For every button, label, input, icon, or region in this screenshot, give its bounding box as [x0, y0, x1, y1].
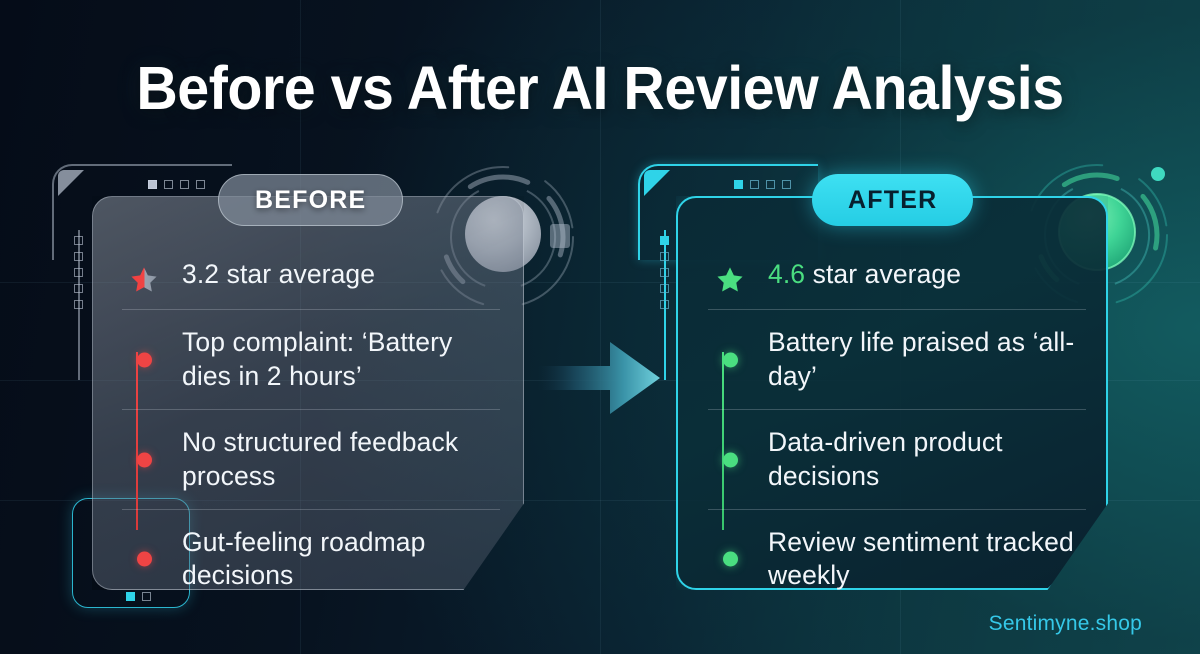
rating-value-after: 4.6 [768, 259, 805, 289]
hud-square [766, 180, 775, 189]
hud-square [74, 284, 83, 293]
hud-square [750, 180, 759, 189]
hud-square [196, 180, 205, 189]
bullet-dot-red [122, 452, 166, 467]
list-item-rating-after: 4.6 star average [708, 250, 1086, 309]
hud-square [148, 180, 157, 189]
bullet-dot-red [122, 552, 166, 567]
hud-square [74, 268, 83, 277]
list-item: Battery life praised as ‘all-day’ [708, 309, 1086, 409]
star-half-icon [122, 265, 166, 294]
hud-square [660, 268, 669, 277]
bullet-dot-green [708, 452, 752, 467]
footer-brand[interactable]: Sentimyne.shop [989, 612, 1142, 636]
list-item: Top complaint: ‘Battery dies in 2 hours’ [122, 309, 500, 409]
list-item-label: No structured feedback process [122, 426, 500, 493]
hud-square [74, 236, 83, 245]
rating-suffix-after: star average [805, 259, 961, 289]
hud-square [660, 236, 669, 245]
dot-glyph [723, 452, 738, 467]
page-title: Before vs After AI Review Analysis [36, 58, 1164, 119]
list-item-label: Battery life praised as ‘all-day’ [708, 326, 1086, 393]
list-item-label: Data-driven product decisions [708, 426, 1086, 493]
arrow-right-glyph [538, 330, 666, 426]
badge-after-label: AFTER [848, 186, 937, 215]
list-item-label: Gut-feeling roadmap decisions [122, 526, 500, 593]
hud-left-bar [664, 230, 666, 380]
list-item-label: Review sentiment tracked weekly [708, 526, 1086, 593]
star-full-icon [708, 265, 752, 294]
hud-square [164, 180, 173, 189]
dot-glyph [723, 352, 738, 367]
list-before: 3.2 star average Top complaint: ‘Battery… [122, 250, 500, 609]
badge-after[interactable]: AFTER [812, 174, 973, 226]
hud-corner-triangle-icon [58, 170, 84, 196]
hud-left-squares-after [660, 236, 669, 309]
list-item: Review sentiment tracked weekly [708, 509, 1086, 609]
hud-left-squares-before [74, 236, 83, 309]
hud-top-squares-after [734, 180, 791, 189]
list-item-rating-before: 3.2 star average [122, 250, 500, 309]
hud-square [660, 252, 669, 261]
badge-before-label: BEFORE [255, 186, 366, 215]
hud-square [74, 300, 83, 309]
hud-corner-triangle-icon [644, 170, 670, 196]
bullet-dot-green [708, 552, 752, 567]
hud-square [660, 284, 669, 293]
list-after: 4.6 star average Battery life praised as… [708, 250, 1086, 609]
dot-glyph [723, 552, 738, 567]
list-item: Data-driven product decisions [708, 409, 1086, 509]
dot-glyph [137, 352, 152, 367]
list-item: Gut-feeling roadmap decisions [122, 509, 500, 609]
hud-square [734, 180, 743, 189]
list-item-label: Top complaint: ‘Battery dies in 2 hours’ [122, 326, 500, 393]
dot-glyph [137, 552, 152, 567]
hud-square [660, 300, 669, 309]
bullet-dot-green [708, 352, 752, 367]
hud-top-squares-before [148, 180, 205, 189]
hud-square [74, 252, 83, 261]
badge-before[interactable]: BEFORE [218, 174, 403, 226]
star-half-glyph [129, 265, 159, 294]
rating-suffix-before: star average [219, 259, 375, 289]
hud-square [782, 180, 791, 189]
infographic-stage: Before vs After AI Review Analysis [0, 0, 1200, 654]
hud-square [180, 180, 189, 189]
dot-glyph [137, 452, 152, 467]
rating-value-before: 3.2 [182, 259, 219, 289]
star-full-glyph [715, 265, 745, 294]
list-item: No structured feedback process [122, 409, 500, 509]
hud-left-bar [78, 230, 80, 380]
bullet-dot-red [122, 352, 166, 367]
